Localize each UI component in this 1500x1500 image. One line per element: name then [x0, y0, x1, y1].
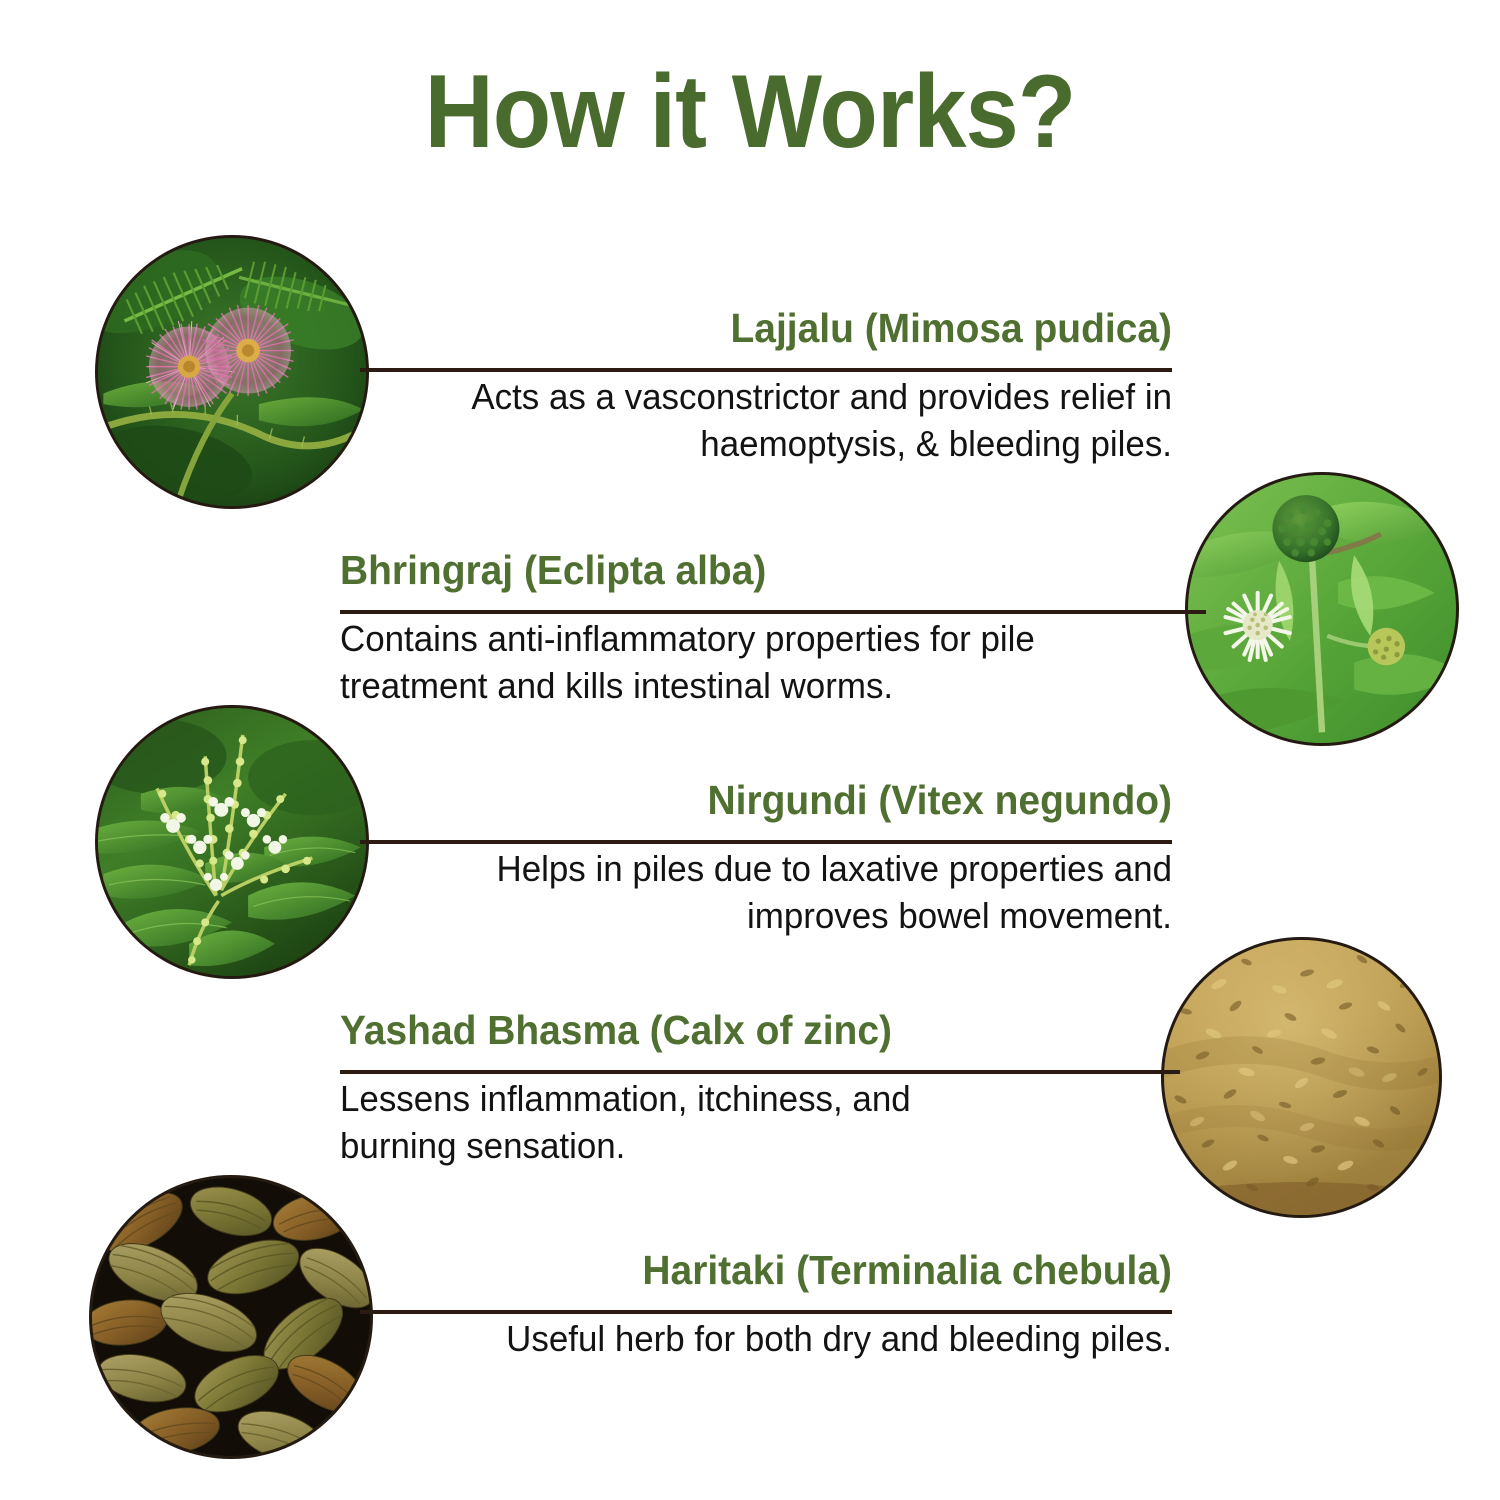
ingredient-text-bhringraj: Bhringraj (Eclipta alba) Contains anti-i… [340, 548, 1150, 710]
ingredient-text-lajjalu: Lajjalu (Mimosa pudica) Acts as a vascon… [360, 306, 1172, 468]
ingredient-divider [340, 610, 1206, 614]
ingredient-description: Contains anti-inflammatory properties fo… [340, 616, 1126, 710]
ingredient-divider [360, 368, 1172, 372]
ingredient-name: Haritaki (Terminalia chebula) [401, 1248, 1172, 1294]
ingredient-image-lajjalu [98, 238, 366, 506]
ingredient-text-haritaki: Haritaki (Terminalia chebula) Useful her… [360, 1248, 1172, 1363]
ingredient-text-yashad-bhasma: Yashad Bhasma (Calx of zinc) Lessens inf… [340, 1008, 1190, 1170]
ingredient-name: Lajjalu (Mimosa pudica) [401, 306, 1172, 352]
terminalia-chebula-illustration [92, 1178, 370, 1456]
mimosa-pudica-illustration [98, 238, 366, 506]
eclipta-alba-illustration [1188, 475, 1456, 743]
ingredient-name: Nirgundi (Vitex negundo) [401, 778, 1172, 824]
zinc-calx-powder-illustration [1164, 940, 1439, 1215]
ingredient-description: Lessens inflammation, itchiness, and bur… [340, 1076, 1000, 1170]
ingredient-name: Bhringraj (Eclipta alba) [340, 548, 1110, 594]
ingredient-image-nirgundi [98, 708, 366, 976]
ingredient-image-bhringraj [1188, 475, 1456, 743]
ingredient-divider [340, 1070, 1180, 1074]
ingredient-text-nirgundi: Nirgundi (Vitex negundo) Helps in piles … [360, 778, 1172, 940]
ingredient-name: Yashad Bhasma (Calx of zinc) [340, 1008, 1148, 1054]
ingredient-image-haritaki [92, 1178, 370, 1456]
ingredient-description: Acts as a vasconstrictor and provides re… [384, 374, 1172, 468]
ingredient-description: Useful herb for both dry and bleeding pi… [384, 1316, 1172, 1363]
ingredient-divider [360, 1310, 1172, 1314]
ingredient-image-yashad-bhasma [1164, 940, 1439, 1215]
how-it-works-infographic: How it Works? [0, 0, 1500, 1500]
page-title: How it Works? [60, 58, 1440, 167]
ingredient-description: Helps in piles due to laxative propertie… [384, 846, 1172, 940]
vitex-negundo-illustration [98, 708, 366, 976]
ingredient-divider [360, 840, 1172, 844]
